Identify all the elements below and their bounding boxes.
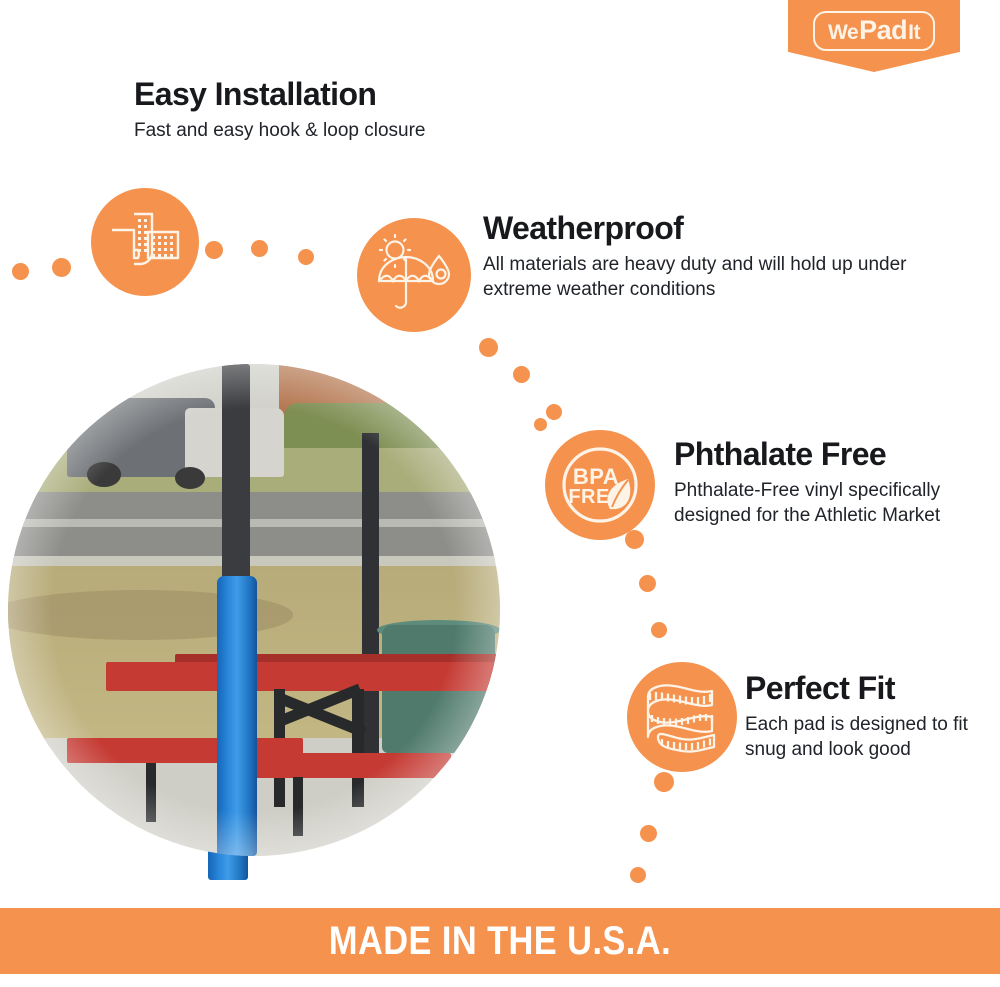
feature-title: Easy Installation <box>134 78 554 112</box>
connector-dot <box>534 418 547 431</box>
made-in-usa-banner: MADE IN THE U.S.A. <box>0 908 1000 974</box>
connector-dot <box>513 366 530 383</box>
hook-and-loop-strip-icon <box>91 188 199 296</box>
connector-dot <box>651 622 667 638</box>
connector-dot <box>52 258 71 277</box>
infographic-canvas: We Pad It Easy Installation Fast and eas… <box>0 0 1000 987</box>
feature-title: Perfect Fit <box>745 672 985 706</box>
connector-dot <box>654 772 674 792</box>
brand-logo-frame: We Pad It <box>813 11 935 51</box>
connector-dot <box>630 867 646 883</box>
feature-title: Phthalate Free <box>674 438 974 472</box>
product-photo <box>8 364 500 880</box>
connector-dot <box>546 404 562 420</box>
feature-description: All materials are heavy duty and will ho… <box>483 252 913 303</box>
brand-logo-pad: Pad <box>859 15 907 46</box>
feature-description: Each pad is designed to fit snug and loo… <box>745 712 985 763</box>
made-in-usa-label: MADE IN THE U.S.A. <box>329 919 671 964</box>
brand-logo[interactable]: We Pad It <box>788 0 960 72</box>
bpa-free-leaf-icon: BPA FREE <box>545 430 655 540</box>
feature-title: Weatherproof <box>483 212 913 246</box>
connector-dot <box>479 338 498 357</box>
measuring-tape-icon <box>627 662 737 772</box>
feature-description: Fast and easy hook & loop closure <box>134 118 554 143</box>
connector-dot <box>298 249 314 265</box>
connector-dot <box>12 263 29 280</box>
feature-block-easy-installation: Easy Installation Fast and easy hook & l… <box>134 78 554 143</box>
feature-block-weatherproof: Weatherproof All materials are heavy dut… <box>483 212 913 302</box>
brand-logo-we: We <box>828 21 858 45</box>
brand-logo-it: It <box>908 21 920 45</box>
sun-umbrella-rain-icon <box>357 218 471 332</box>
feature-description: Phthalate-Free vinyl specifically design… <box>674 478 974 529</box>
feature-block-perfect-fit: Perfect Fit Each pad is designed to fit … <box>745 672 985 762</box>
connector-dot <box>640 825 657 842</box>
connector-dot <box>251 240 268 257</box>
connector-dot <box>205 241 223 259</box>
product-photo-circle <box>8 364 500 856</box>
feature-block-phthalate-free: Phthalate Free Phthalate-Free vinyl spec… <box>674 438 974 528</box>
connector-dot <box>639 575 656 592</box>
